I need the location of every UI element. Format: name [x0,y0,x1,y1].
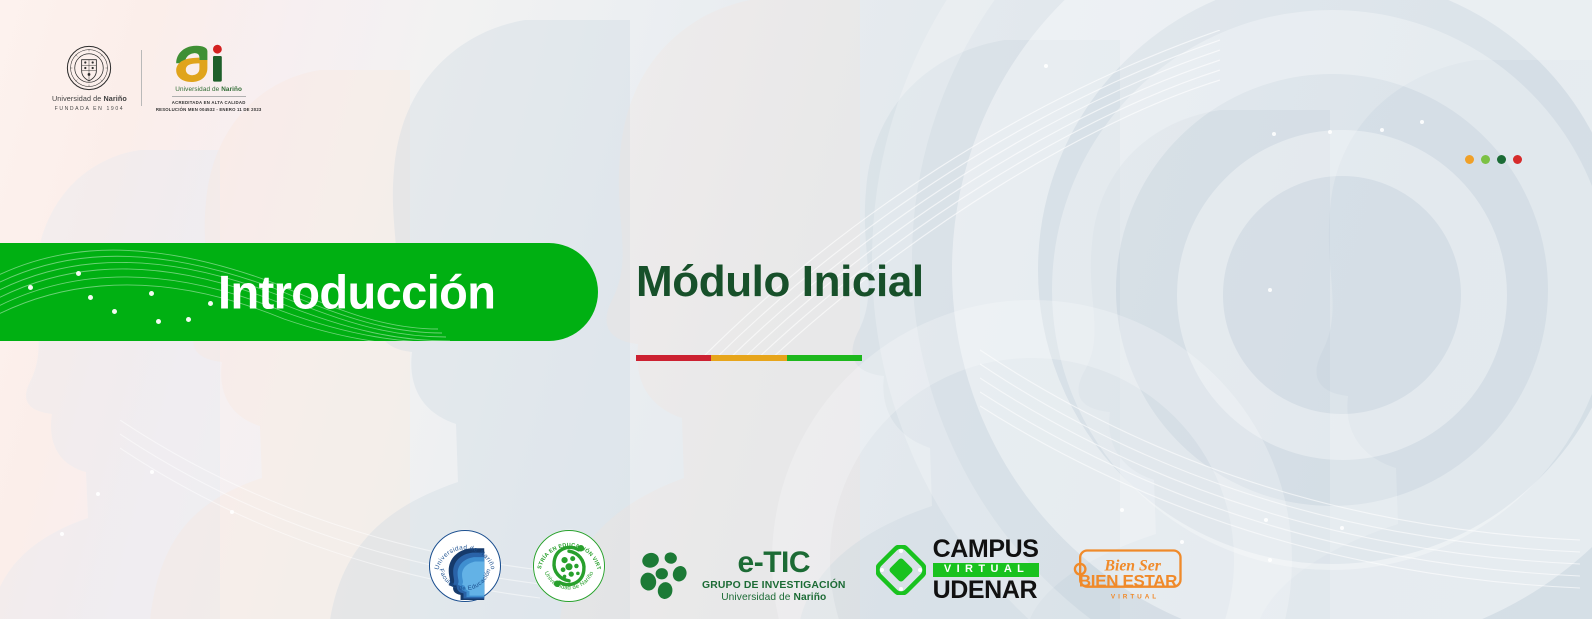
decorative-arc [952,0,1592,619]
sparkle-dot [1120,508,1124,512]
bien-ser-bien-estar-logo-icon: Bien Ser BIEN ESTAR VIRTUAL [1069,547,1187,603]
page-title: Introducción [218,265,495,320]
seal-university-name: Universidad de Nariño [52,94,127,103]
campus-line-1: CAMPUS [933,537,1039,562]
university-seal-logo: Universidad de Nariño FUNDADA EN 1904 [52,45,127,112]
pill-dot [76,271,81,276]
campus-line-3: UDENAR [933,578,1039,603]
decorative-arc [872,0,1592,619]
campus-virtual-udenar-logo: CAMPUS VIRTUAL UDENAR [876,537,1039,603]
sparkle-dot [230,510,234,514]
tricolor-segment-green [787,355,862,361]
maestria-educacion-virtual-logo: MAESTRÍA EN EDUCACIÓN VIRTUAL Universida… [532,529,606,603]
bien-ser-bien-estar-logo: Bien Ser BIEN ESTAR VIRTUAL Bien Ser BIE… [1069,547,1187,603]
sparkle-dot [150,470,154,474]
accreditation-line-2: RESOLUCIÓN MEN 004532 - ENERO 11 DE 2023 [156,107,262,112]
pill-dot [208,301,213,306]
sparkle-dot [60,532,64,536]
dot-light-green [1481,155,1490,164]
pill-dot [28,285,33,290]
module-title-block: Módulo Inicial [636,258,924,361]
decorative-arc [1052,10,1592,570]
seal-founded-text: FUNDADA EN 1904 [55,106,125,112]
etic-title: e-TIC [738,548,811,578]
accreditation-rule [172,96,246,97]
dot-dark-green [1497,155,1506,164]
sparkle-dot [1420,120,1424,124]
course-banner: Universidad de Nariño FUNDADA EN 1904 Un… [0,0,1592,619]
accreditation-line-1: ACREDITADA EN ALTA CALIDAD [172,100,246,105]
etic-logo-icon [636,549,692,603]
university-seal-icon [66,45,112,91]
head-silhouette-icon [0,150,220,619]
campus-virtual-diamond-icon [876,545,926,595]
maestria-educacion-virtual-logo-icon: MAESTRÍA EN EDUCACIÓN VIRTUAL Universida… [532,529,606,603]
sparkle-dot [1328,130,1332,134]
tricolor-segment-red [636,355,711,361]
pill-dot [88,295,93,300]
head-silhouette-icon [150,70,410,619]
introduction-pill-banner: Introducción [0,243,598,341]
logo-divider [141,50,142,106]
svg-text:VIRTUAL: VIRTUAL [1110,593,1158,600]
dot-red [1513,155,1522,164]
accreditation-university-name: Universidad de Nariño [175,86,242,93]
institution-logo-row: Universidad de Nariño FUNDADA EN 1904 Un… [52,44,262,112]
accreditation-logo: Universidad de Nariño ACREDITADA EN ALTA… [156,44,262,112]
facultad-educacion-logo: Universidad de Nariño Facultad de Educac… [428,529,502,603]
etic-institution: Universidad de Nariño [721,592,826,603]
sparkle-dot [1268,558,1272,562]
sparkle-dot [1340,526,1344,530]
etic-logo: e-TIC GRUPO DE INVESTIGACIÓN Universidad… [636,548,846,603]
etic-subtitle: GRUPO DE INVESTIGACIÓN [702,580,846,591]
module-title: Módulo Inicial [636,258,924,306]
pill-dot [112,309,117,314]
dot-orange [1465,155,1474,164]
pill-dot [186,317,191,322]
sparkle-dot [1268,288,1272,292]
sparkle-dot [1272,132,1276,136]
tricolor-rule [636,355,862,361]
sparkle-dot [96,492,100,496]
corner-dot-group [1465,155,1522,164]
facultad-educacion-logo-icon: Universidad de Nariño Facultad de Educac… [428,529,502,603]
pill-dot [156,319,161,324]
sparkle-dot [1044,64,1048,68]
sparkle-dot [1380,128,1384,132]
footer-logo-strip: Universidad de Nariño Facultad de Educac… [428,529,1187,603]
decorative-arc [1177,130,1507,460]
head-silhouette-icon [1260,60,1592,619]
campus-line-2: VIRTUAL [933,563,1039,577]
pill-dot [149,291,154,296]
sparkle-dot [1264,518,1268,522]
accreditation-ai-icon [173,44,245,84]
tricolor-segment-yellow [711,355,786,361]
svg-text:BIEN ESTAR: BIEN ESTAR [1078,572,1176,591]
